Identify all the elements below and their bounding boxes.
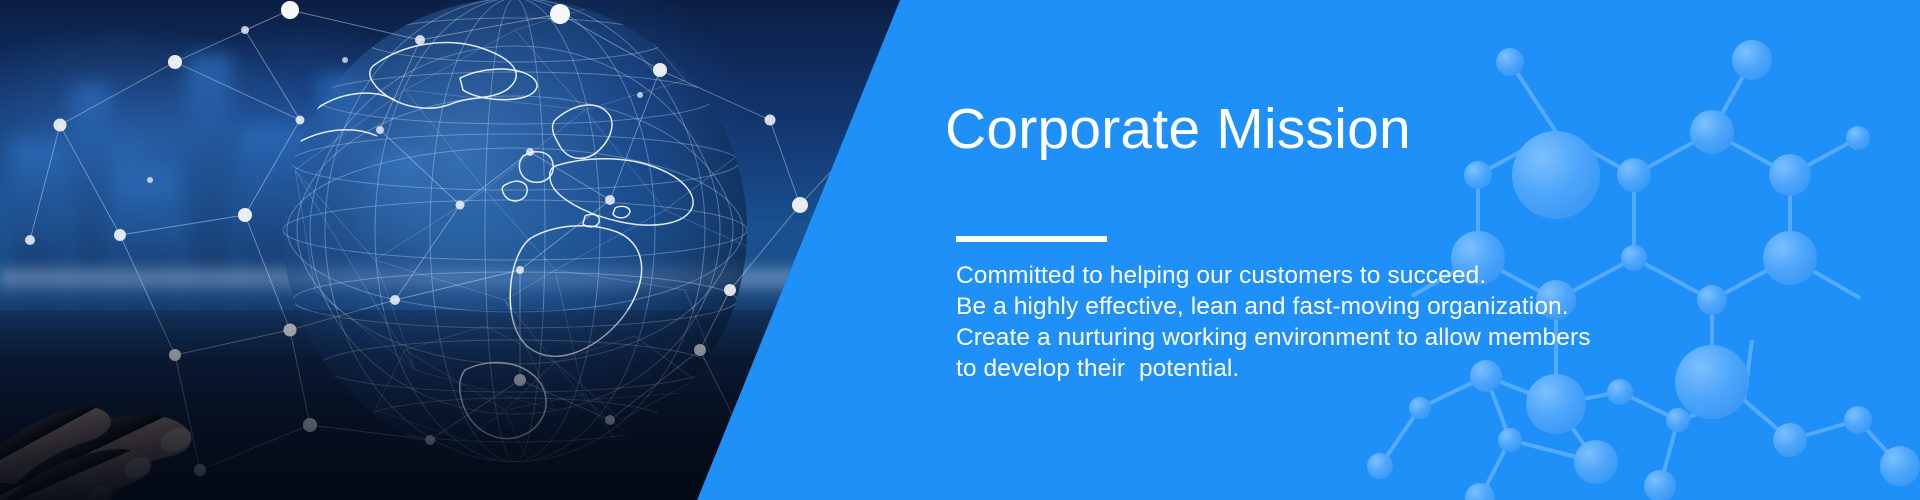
- mission-line: to develop their potential.: [956, 353, 1676, 384]
- page-title: Corporate Mission: [945, 98, 1411, 160]
- mission-line: Be a highly effective, lean and fast-mov…: [956, 291, 1676, 322]
- photo-bottom-shadow: [0, 310, 905, 500]
- digital-globe-photo: [0, 0, 905, 500]
- corporate-mission-banner: Corporate Mission Committed to helping o…: [0, 0, 1920, 500]
- photo-inner: [0, 0, 905, 500]
- mission-line: Committed to helping our customers to su…: [956, 260, 1676, 291]
- mission-line: Create a nurturing working environment t…: [956, 322, 1676, 353]
- mission-content: Corporate Mission Committed to helping o…: [945, 0, 1645, 500]
- mission-statement: Committed to helping our customers to su…: [956, 260, 1676, 384]
- title-underline: [956, 236, 1107, 242]
